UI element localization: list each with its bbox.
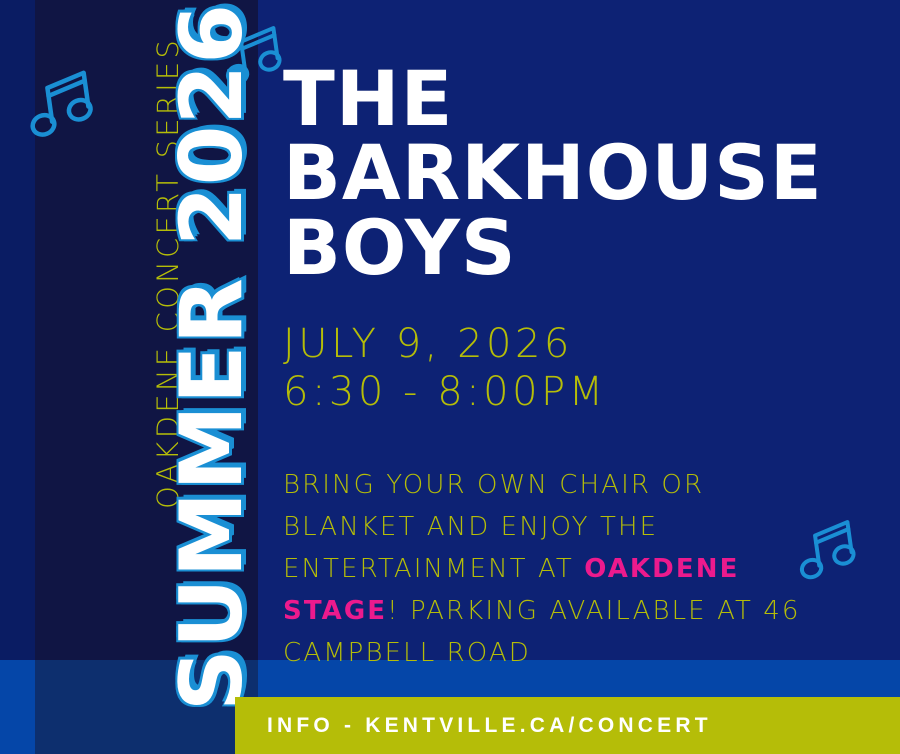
event-description: BRING YOUR OWN CHAIR OR BLANKET AND ENJO… <box>283 464 823 675</box>
page-title: THE BARKHOUSE BOYS <box>283 62 883 285</box>
music-note-icon <box>21 61 105 150</box>
background-bottom-left-strip <box>0 660 35 754</box>
poster-content: THE BARKHOUSE BOYS JULY 9, 2026 6:30 - 8… <box>283 62 883 674</box>
concert-poster: OAKDENE CONCERT SERIES SUMMER 2026 THE B… <box>0 0 900 754</box>
info-bar[interactable]: INFO - KENTVILLE.CA/CONCERT <box>235 697 900 754</box>
event-time: 6:30 - 8:00PM <box>283 369 883 416</box>
summer-year-label: SUMMER 2026 <box>162 0 262 737</box>
info-bar-text: INFO - KENTVILLE.CA/CONCERT <box>235 714 712 738</box>
event-datetime: JULY 9, 2026 6:30 - 8:00PM <box>283 321 883 415</box>
event-date: JULY 9, 2026 <box>283 321 883 368</box>
